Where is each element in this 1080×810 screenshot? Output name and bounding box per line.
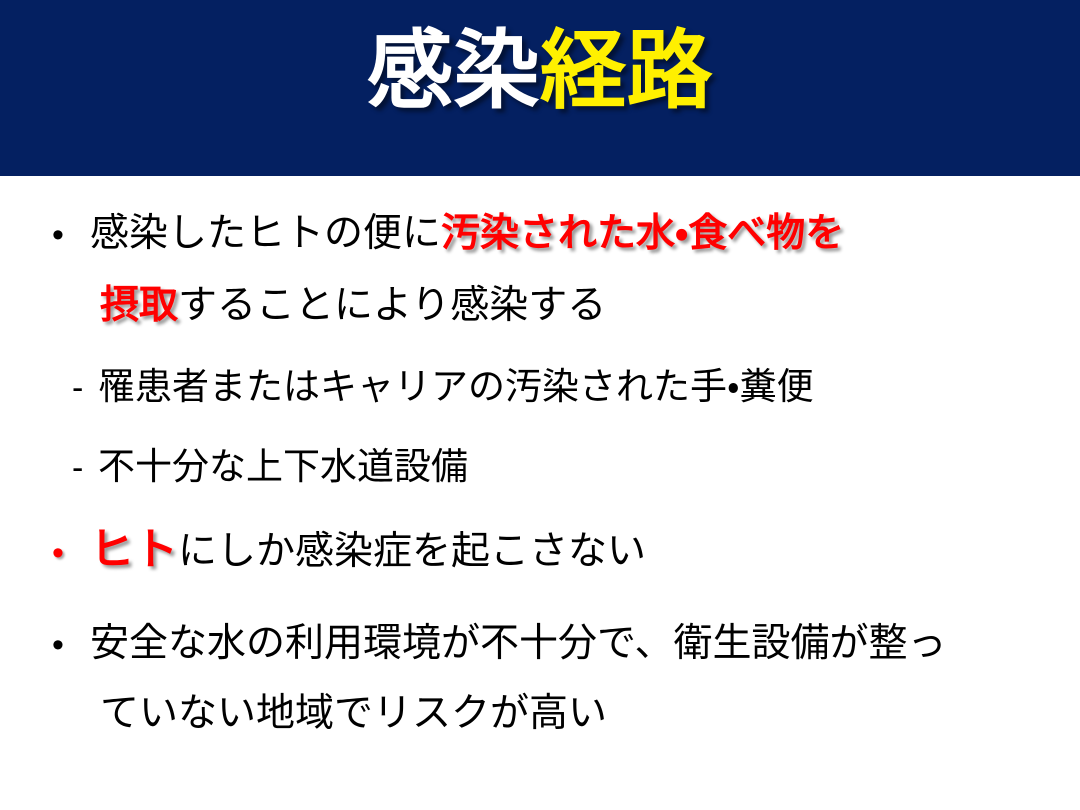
sub-bullet-item-2: - 不十分な上下水道設備 bbox=[72, 448, 468, 485]
title-band: 感染経路 bbox=[0, 0, 1080, 176]
bullet-item-3-line-2: ていない地域でリスクが高い bbox=[100, 694, 607, 733]
title-segment-yellow: 経路 bbox=[540, 23, 713, 119]
bullet-text-plain: ていない地域でリスクが高い bbox=[100, 694, 607, 733]
bullet-item-1-line-2: 摂取することにより感染する bbox=[100, 286, 606, 325]
bullet-text-plain: 安全な水の利用環境が不十分で、衛生設備が整っ bbox=[90, 624, 946, 663]
bullet-marker-dot: • bbox=[52, 628, 90, 662]
slide-body: • 感染したヒトの便に汚染された水・食べ物を 摂取することにより感染する - 罹… bbox=[0, 176, 1080, 810]
bullet-marker-dot: • bbox=[52, 218, 90, 252]
sub-bullet-text: 罹患者またはキャリアの汚染された手・糞便 bbox=[98, 368, 814, 405]
page-title: 感染経路 bbox=[0, 18, 1080, 126]
bullet-marker-dot-red: • bbox=[52, 536, 90, 570]
bullet-text-plain: 感染したヒトの便に bbox=[90, 214, 441, 253]
bullet-text-highlight: 汚染された水・食べ物を bbox=[441, 214, 844, 253]
bullet-item-2: • ヒトにしか感染症を起こさない bbox=[52, 528, 646, 572]
bullet-text-highlight: ヒト bbox=[90, 528, 178, 572]
bullet-text-plain: にしか感染症を起こさない bbox=[178, 532, 646, 571]
bullet-text-highlight: 摂取 bbox=[100, 286, 178, 325]
bullet-item-1-line-1: • 感染したヒトの便に汚染された水・食べ物を bbox=[52, 214, 844, 253]
title-segment-white: 感染 bbox=[367, 23, 540, 119]
slide: 感染経路 • 感染したヒトの便に汚染された水・食べ物を 摂取することにより感染す… bbox=[0, 0, 1080, 810]
bullet-marker-dash: - bbox=[72, 371, 98, 405]
bullet-marker-dash: - bbox=[72, 451, 98, 485]
sub-bullet-item-1: - 罹患者またはキャリアの汚染された手・糞便 bbox=[72, 368, 814, 405]
bullet-item-3-line-1: • 安全な水の利用環境が不十分で、衛生設備が整っ bbox=[52, 624, 946, 663]
bullet-text-plain: することにより感染する bbox=[178, 286, 606, 325]
sub-bullet-text: 不十分な上下水道設備 bbox=[98, 448, 468, 485]
